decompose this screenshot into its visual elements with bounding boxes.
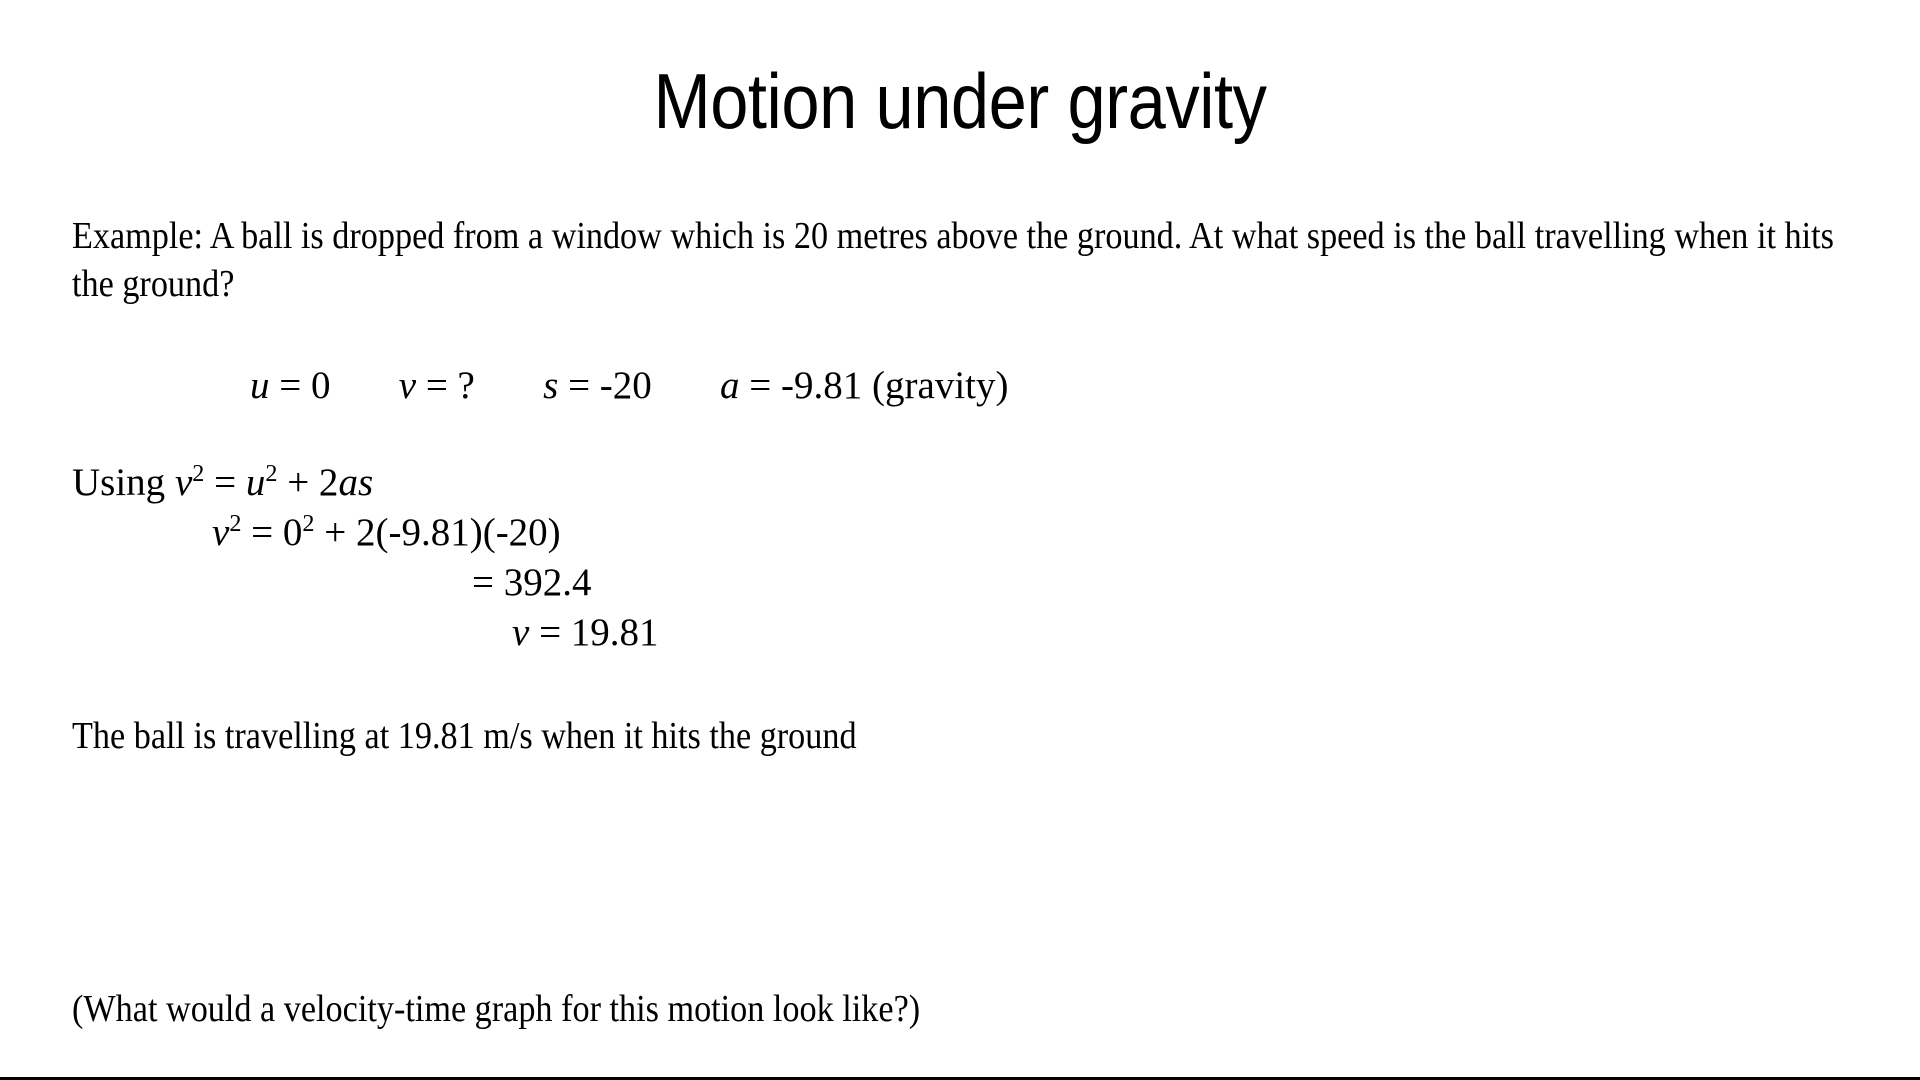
substitution-equals-zero: = 0 — [241, 511, 302, 554]
formula-u-exponent: 2 — [265, 460, 277, 487]
substitution-tail: + 2(-9.81)(-20) — [315, 511, 561, 554]
variable-v-symbol: v — [399, 364, 416, 407]
variable-a-symbol: a — [720, 364, 740, 407]
slide-body: Example: A ball is dropped from a window… — [72, 212, 1872, 760]
formula-v-symbol: v — [175, 461, 192, 504]
given-values-line: u = 0 v = ? s = -20 a = -9.81 (gravity) — [72, 362, 1872, 410]
equation-result-line: = 392.4 — [72, 558, 1872, 608]
substitution-zero-exponent: 2 — [302, 510, 314, 537]
variable-s-value: = -20 — [558, 364, 651, 407]
formula-as-symbol: as — [338, 461, 373, 504]
formula-u-symbol: u — [246, 461, 266, 504]
variable-a-value: = -9.81 (gravity) — [740, 364, 1009, 407]
formula-plus-two: + 2 — [277, 461, 338, 504]
variable-v-value: = ? — [416, 364, 475, 407]
conclusion-paragraph: The ball is travelling at 19.81 m/s when… — [72, 712, 1870, 760]
variable-u-symbol: u — [250, 364, 270, 407]
variable-u-value: = 0 — [270, 364, 331, 407]
page-title: Motion under gravity — [115, 62, 1805, 140]
formula-v-exponent: 2 — [192, 460, 204, 487]
substitution-v-exponent: 2 — [229, 510, 241, 537]
closing-question: (What would a velocity-time graph for th… — [72, 985, 920, 1033]
equation-substitution-line: v2 = 02 + 2(-9.81)(-20) — [72, 508, 1872, 558]
final-v-symbol: v — [512, 611, 529, 654]
substitution-v-symbol: v — [212, 511, 229, 554]
variable-s-symbol: s — [543, 364, 558, 407]
intro-paragraph: Example: A ball is dropped from a window… — [72, 212, 1870, 308]
equation-using-line: Using v2 = u2 + 2as — [72, 458, 1872, 508]
final-v-value: = 19.81 — [529, 611, 658, 654]
presentation-slide: Motion under gravity Example: A ball is … — [0, 0, 1920, 1080]
formula-equals: = — [204, 461, 246, 504]
using-prefix-label: Using — [72, 461, 175, 504]
equation-final-line: v = 19.81 — [72, 608, 1872, 658]
